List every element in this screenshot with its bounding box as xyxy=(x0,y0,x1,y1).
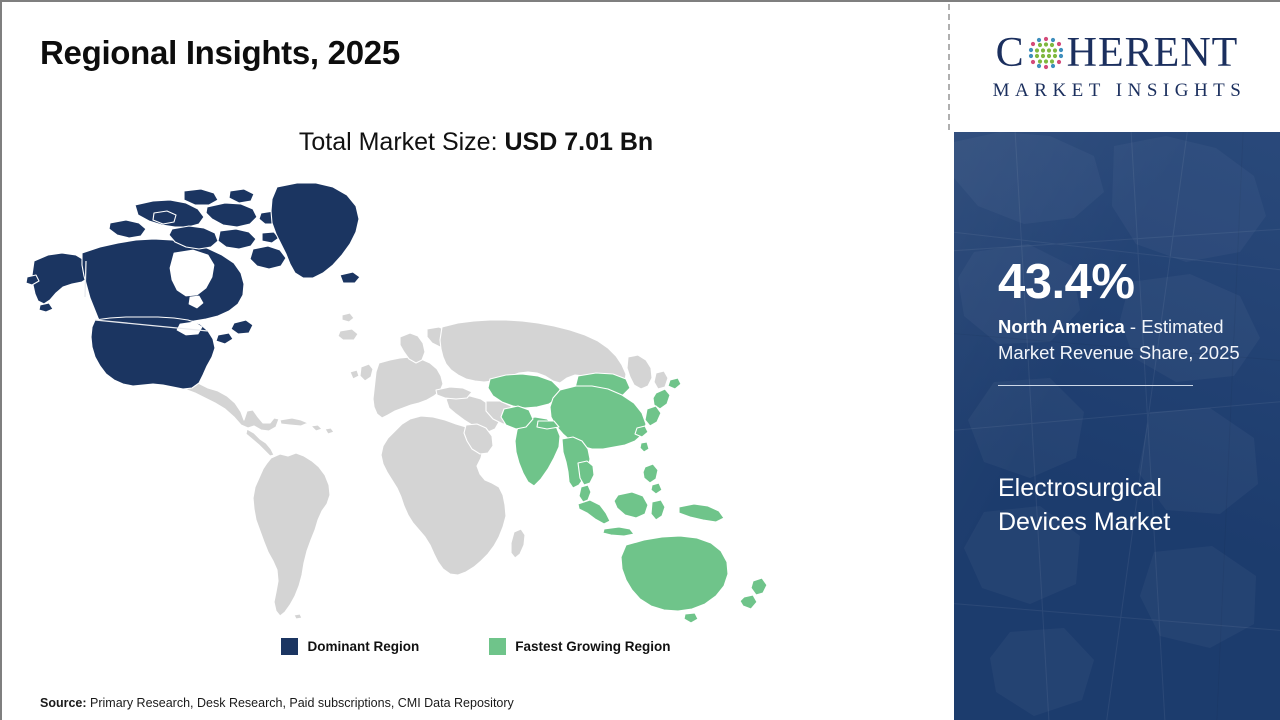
legend-swatch-fastest-growing xyxy=(489,638,506,655)
stat-region-name: North America xyxy=(998,316,1125,337)
logo-subtitle: MARKET INSIGHTS xyxy=(988,80,1247,102)
world-map xyxy=(22,177,852,627)
stat-block: 43.4% North America - Estimated Market R… xyxy=(998,257,1260,386)
stat-percentage: 43.4% xyxy=(998,257,1260,308)
logo-wordmark: C xyxy=(996,32,1239,74)
left-content-panel: Regional Insights, 2025 Total Market Siz… xyxy=(2,2,950,720)
panel-divider xyxy=(948,4,950,130)
market-size-value: USD 7.01 Bn xyxy=(504,128,653,156)
company-logo: C xyxy=(954,2,1280,132)
infographic-root: Regional Insights, 2025 Total Market Siz… xyxy=(0,0,1280,720)
total-market-size: Total Market Size: USD 7.01 Bn xyxy=(2,128,950,157)
panel-map-texture xyxy=(954,132,1280,720)
legend-label-fastest-growing: Fastest Growing Region xyxy=(515,639,670,654)
source-label: Source: xyxy=(40,696,87,710)
market-size-label: Total Market Size: xyxy=(299,128,505,156)
logo-letter-c: C xyxy=(996,32,1025,74)
market-name: Electrosurgical Devices Market xyxy=(998,472,1256,539)
source-text: Primary Research, Desk Research, Paid su… xyxy=(87,696,514,710)
map-legend: Dominant Region Fastest Growing Region xyxy=(2,638,950,655)
dotted-globe-icon xyxy=(1026,33,1066,73)
legend-swatch-dominant xyxy=(281,638,298,655)
legend-label-dominant: Dominant Region xyxy=(307,639,419,654)
legend-item-dominant: Dominant Region xyxy=(281,638,419,655)
map-inactive-regions xyxy=(185,313,668,619)
map-region-asia-pacific xyxy=(488,373,767,623)
stat-caption: North America - Estimated Market Revenue… xyxy=(998,314,1260,365)
source-note: Source: Primary Research, Desk Research,… xyxy=(40,696,514,710)
page-title: Regional Insights, 2025 xyxy=(40,34,400,72)
stat-divider xyxy=(998,385,1193,386)
legend-item-fastest-growing: Fastest Growing Region xyxy=(489,638,670,655)
highlight-panel: 43.4% North America - Estimated Market R… xyxy=(954,132,1280,720)
logo-word-rest: HERENT xyxy=(1067,32,1239,74)
